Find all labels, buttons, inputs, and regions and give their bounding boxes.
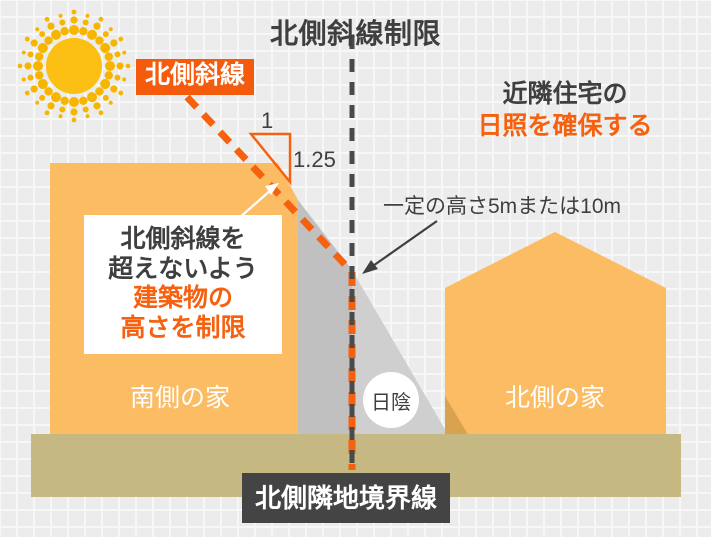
callout-line-1: 北側斜線を xyxy=(88,225,278,255)
height-note-label: 一定の高さ5mまたは10m xyxy=(383,190,621,220)
ratio-run-label: 1.25 xyxy=(293,147,336,173)
ratio-rise-label: 1 xyxy=(261,108,273,134)
boundary-line-label: 北側隣地境界線 xyxy=(242,473,450,523)
shade-far-region xyxy=(352,270,460,455)
headline-line-1: 近隣住宅の xyxy=(430,78,700,110)
headline-line-2: 日照を確保する xyxy=(430,110,700,142)
height-note-arrow xyxy=(362,221,437,274)
headline-block: 近隣住宅の 日照を確保する xyxy=(430,78,700,142)
callout-box: 北側斜線を 超えないよう 建築物の 高さを制限 xyxy=(84,215,282,354)
diagram-canvas: 北側斜線制限 北側斜線 1 1.25 近隣住宅の 日照を確保する 一定の高さ5m… xyxy=(0,0,711,537)
callout-line-4: 高さを制限 xyxy=(88,314,278,344)
page-title: 北側斜線制限 xyxy=(0,12,711,52)
north-house-label: 北側の家 xyxy=(460,378,650,414)
north-slant-tag: 北側斜線 xyxy=(136,59,254,95)
callout-line-3: 建築物の xyxy=(88,284,278,314)
shade-badge: 日陰 xyxy=(363,372,419,428)
shade-near-region xyxy=(298,200,352,455)
south-house-label: 南側の家 xyxy=(85,378,275,414)
shade-badge-label: 日陰 xyxy=(371,386,411,415)
callout-line-2: 超えないよう xyxy=(88,255,278,285)
